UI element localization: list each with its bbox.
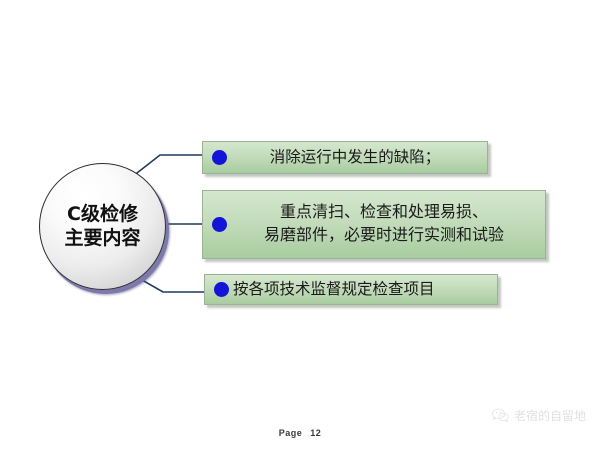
page-footer: Page12 — [0, 428, 600, 438]
slide-canvas: C级检修 主要内容 消除运行中发生的缺陷； 重点清扫、检查和处理易损、 易磨部件… — [0, 0, 600, 450]
filled-circle-bullet-icon — [212, 150, 227, 165]
wechat-logo-icon — [492, 408, 509, 423]
callout-box-1-text: 消除运行中发生的缺陷； — [227, 147, 487, 169]
filled-circle-bullet-icon — [214, 282, 229, 297]
callout-box-2-text: 重点清扫、检查和处理易损、 易磨部件，必要时进行实测和试验 — [227, 202, 545, 247]
page-number: 12 — [310, 428, 321, 438]
callout-box-3[interactable]: 按各项技术监督规定检查项目 — [204, 274, 498, 305]
watermark: 老宿的自留地 — [492, 407, 586, 424]
center-node-line-2: 主要内容 — [64, 227, 140, 250]
callout-box-2[interactable]: 重点清扫、检查和处理易损、 易磨部件，必要时进行实测和试验 — [202, 190, 546, 259]
center-node[interactable]: C级检修 主要内容 — [39, 163, 166, 290]
watermark-text: 老宿的自留地 — [514, 407, 586, 424]
callout-box-3-text: 按各项技术监督规定检查项目 — [229, 279, 497, 301]
callout-box-1[interactable]: 消除运行中发生的缺陷； — [202, 141, 488, 174]
center-node-line-1: C级检修 — [67, 203, 138, 226]
page-label: Page — [279, 428, 303, 438]
filled-circle-bullet-icon — [212, 217, 227, 232]
